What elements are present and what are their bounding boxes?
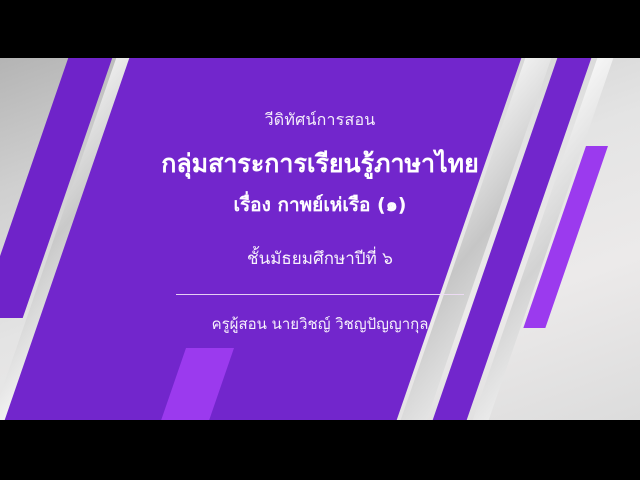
page-title: กลุ่มสาระการเรียนรู้ภาษาไทย bbox=[161, 148, 479, 179]
slide-stage: วีดิทัศน์การสอน กลุ่มสาระการเรียนรู้ภาษา… bbox=[0, 58, 640, 420]
teacher-credit-label: ครูผู้สอน นายวิชญ์ วิชญปัญญากุล bbox=[212, 315, 429, 335]
title-text-block: วีดิทัศน์การสอน กลุ่มสาระการเรียนรู้ภาษา… bbox=[0, 58, 640, 420]
divider bbox=[176, 294, 464, 295]
video-title-slide: วีดิทัศน์การสอน กลุ่มสาระการเรียนรู้ภาษา… bbox=[0, 0, 640, 480]
letterbox-bar-top bbox=[0, 0, 640, 58]
letterbox-bar-bottom bbox=[0, 420, 640, 480]
eyebrow-label: วีดิทัศน์การสอน bbox=[265, 110, 376, 130]
lesson-subtitle: เรื่อง กาพย์เห่เรือ (๑) bbox=[233, 193, 406, 218]
grade-level-label: ชั้นมัธยมศึกษาปีที่ ๖ bbox=[247, 248, 393, 270]
